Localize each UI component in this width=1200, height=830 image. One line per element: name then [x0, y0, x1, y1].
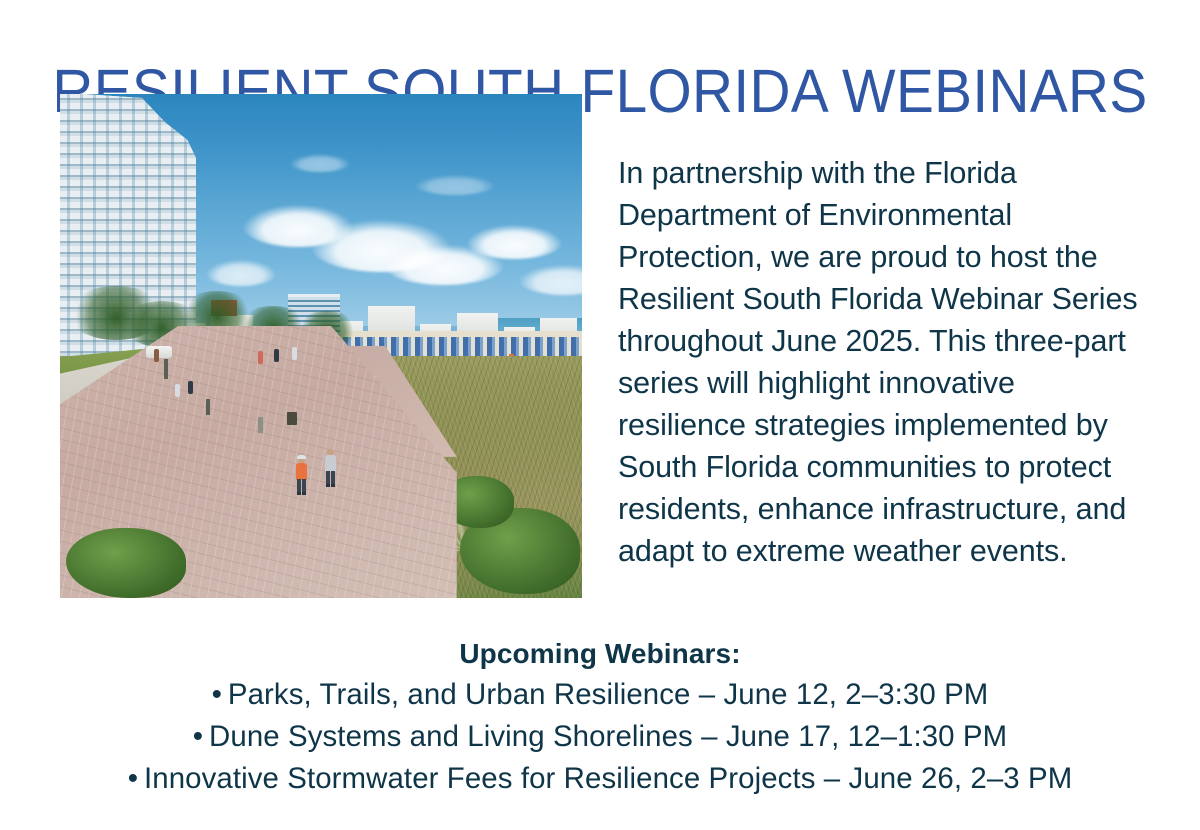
body-paragraph: In partnership with the Florida Departme…: [618, 152, 1146, 572]
hero-image: [60, 94, 582, 598]
pedestrian: [258, 351, 263, 364]
bullet-icon: •: [128, 762, 138, 795]
bollard: [258, 417, 263, 433]
pedestrian: [188, 381, 193, 394]
pedestrian: [154, 349, 159, 362]
webinar-item-text: Parks, Trails, and Urban Resilience – Ju…: [228, 678, 988, 711]
webinar-flyer: RESILIENT SOUTH FLORIDA WEBINARS: [0, 0, 1200, 830]
parked-car: [146, 346, 172, 358]
pedestrian: [274, 349, 279, 362]
hero-image-scene: [60, 94, 582, 598]
bullet-icon: •: [212, 678, 222, 711]
trash-can: [287, 412, 297, 425]
light-post: [164, 359, 168, 379]
webinar-list: •Parks, Trails, and Urban Resilience – J…: [0, 674, 1200, 800]
pedestrian: [175, 384, 180, 397]
upcoming-webinars-section: Upcoming Webinars: •Parks, Trails, and U…: [0, 634, 1200, 800]
shrub: [66, 528, 186, 598]
webinar-item-text: Dune Systems and Living Shorelines – Jun…: [209, 720, 1007, 753]
cloud-icon: [415, 175, 495, 195]
webinar-item-text: Innovative Stormwater Fees for Resilienc…: [144, 762, 1072, 795]
list-item: •Dune Systems and Living Shorelines – Ju…: [12, 716, 1188, 758]
bullet-icon: •: [193, 720, 203, 753]
sign-post: [206, 399, 210, 415]
upcoming-webinars-heading: Upcoming Webinars:: [0, 634, 1200, 674]
pedestrian: [292, 347, 297, 360]
list-item: •Innovative Stormwater Fees for Resilien…: [12, 758, 1188, 800]
list-item: •Parks, Trails, and Urban Resilience – J…: [12, 674, 1188, 716]
cloud-icon: [467, 225, 562, 259]
